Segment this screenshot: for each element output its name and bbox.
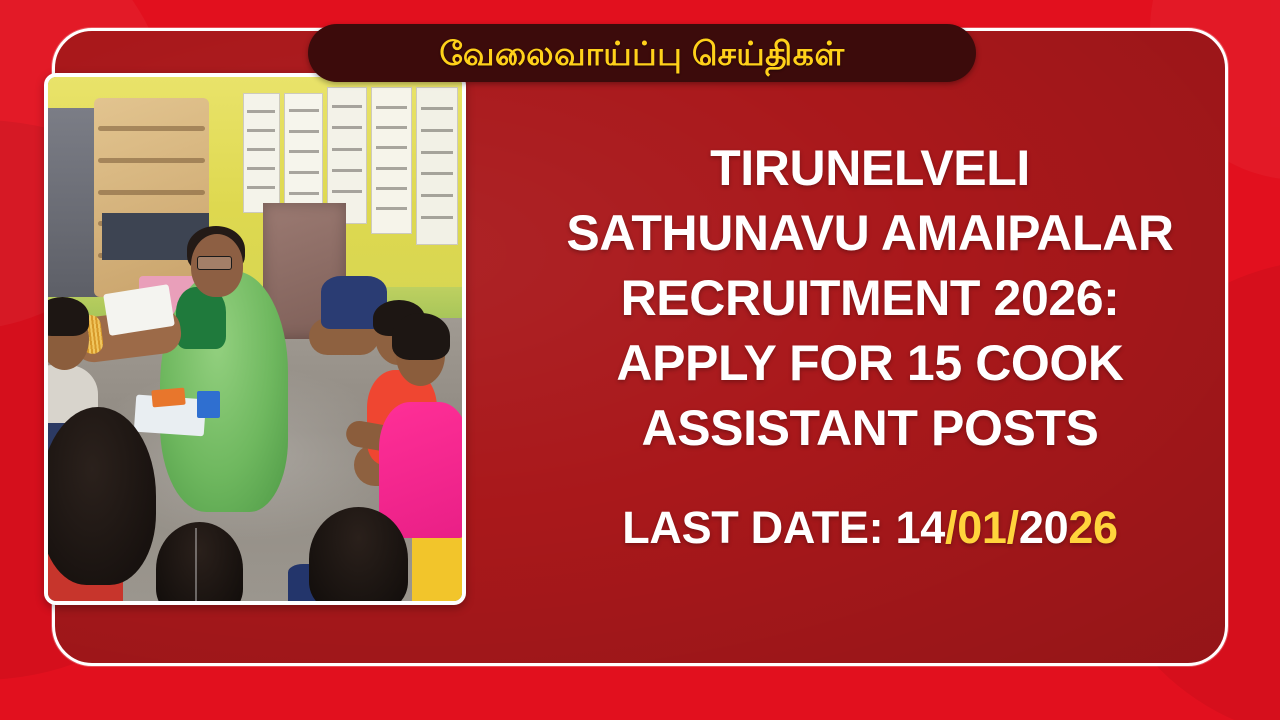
photo-teacher-glasses [197, 256, 232, 270]
photo-wall-chart [371, 87, 412, 234]
photo-child [44, 407, 156, 585]
last-date-label: LAST DATE: [622, 502, 895, 553]
classroom-photo [44, 73, 466, 605]
last-date-year-last: 26 [1068, 502, 1117, 553]
photo-child [44, 297, 89, 336]
photo-child [309, 507, 408, 605]
photo-child [392, 313, 450, 360]
last-date-month: /01/ [945, 502, 1019, 553]
photo-child-pink-dress [379, 402, 466, 538]
last-date-year-first: 20 [1019, 502, 1068, 553]
headline: TIRUNELVELI SATHUNAVU AMAIPALAR RECRUITM… [520, 136, 1220, 461]
header-badge: வேலைவாய்ப்பு செய்திகள் [308, 24, 976, 82]
photo-toy [151, 387, 185, 407]
last-date-day: 14 [896, 502, 945, 553]
header-badge-label: வேலைவாய்ப்பு செய்திகள் [439, 37, 844, 70]
photo-wall-chart [243, 93, 280, 214]
headline-line-5: ASSISTANT POSTS [520, 396, 1220, 461]
headline-line-2: SATHUNAVU AMAIPALAR [520, 201, 1220, 266]
text-column: TIRUNELVELI SATHUNAVU AMAIPALAR RECRUITM… [520, 96, 1220, 636]
job-notification-poster: வேலைவாய்ப்பு செய்திகள் [0, 0, 1280, 720]
headline-line-4: APPLY FOR 15 COOK [520, 331, 1220, 396]
headline-line-1: TIRUNELVELI [520, 136, 1220, 201]
photo-child [156, 522, 243, 605]
last-date-line: LAST DATE: 14/01/2026 [622, 505, 1118, 550]
headline-line-3: RECRUITMENT 2026: [520, 266, 1220, 331]
photo-child [195, 528, 197, 601]
photo-wall-chart [416, 87, 457, 244]
photo-toy [197, 391, 220, 417]
